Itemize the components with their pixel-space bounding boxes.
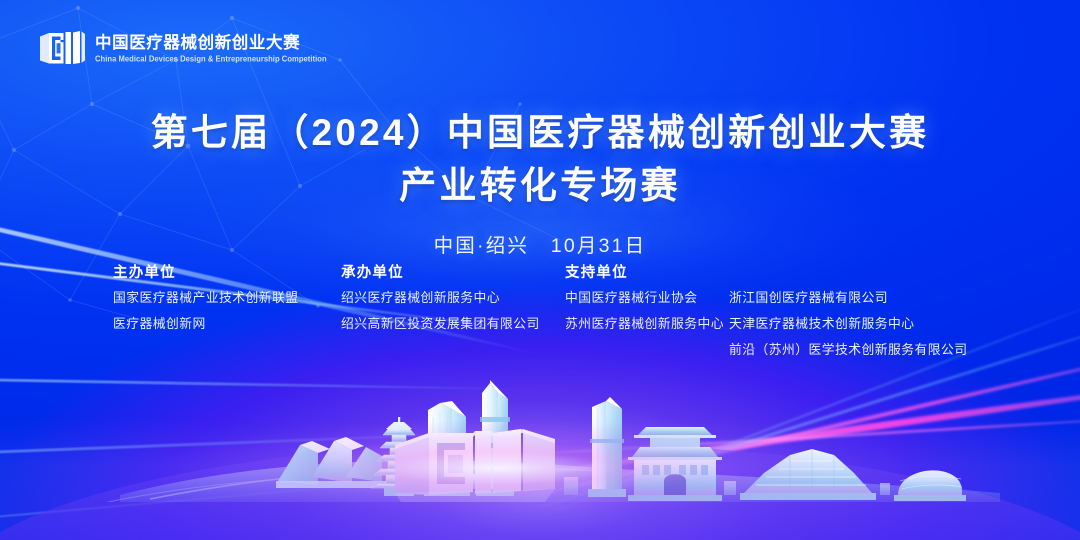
organizer-item: 中国医疗器械行业协会 [565, 291, 729, 305]
organizer-column-host: 主办单位 国家医疗器械产业技术创新联盟 医疗器械创新网 [113, 266, 341, 331]
organizer-column-supporter-continued: 浙江国创医疗器械有限公司 天津医疗器械技术创新服务中心 前沿（苏州）医学技术创新… [729, 266, 967, 357]
organizer-heading: 承办单位 [341, 266, 565, 282]
organizer-column-coorganizer: 承办单位 绍兴医疗器械创新服务中心 绍兴高新区投资发展集团有限公司 [341, 266, 565, 331]
logo-chinese-name: 中国医疗器械创新创业大赛 [95, 34, 327, 53]
organizer-item: 浙江国创医疗器械有限公司 [729, 291, 967, 305]
open-door-logo-svg [38, 24, 86, 72]
organizer-item: 国家医疗器械产业技术创新联盟 [113, 291, 341, 305]
logo-english-name: China Medical Devices Design & Entrepren… [95, 54, 327, 64]
event-banner: 中国医疗器械创新创业大赛 China Medical Devices Desig… [0, 0, 1080, 540]
organizer-item: 前沿（苏州）医学技术创新服务有限公司 [729, 343, 967, 357]
organizer-column-supporter: 支持单位 中国医疗器械行业协会 苏州医疗器械创新服务中心 [565, 266, 729, 331]
organizer-heading: 主办单位 [113, 266, 341, 282]
organizer-item: 绍兴高新区投资发展集团有限公司 [341, 317, 565, 331]
organizer-item: 天津医疗器械技术创新服务中心 [729, 317, 967, 331]
open-door-logo-icon [38, 24, 86, 72]
brand-logo[interactable]: 中国医疗器械创新创业大赛 China Medical Devices Desig… [38, 24, 327, 72]
organizers-block: 主办单位 国家医疗器械产业技术创新联盟 医疗器械创新网 承办单位 绍兴医疗器械创… [113, 266, 967, 357]
organizer-item: 医疗器械创新网 [113, 317, 341, 331]
headline-block: 第七届（2024）中国医疗器械创新创业大赛 产业转化专场赛 中国·绍兴 10月3… [0, 108, 1080, 258]
organizer-item: 苏州医疗器械创新服务中心 [565, 317, 729, 331]
headline-line-2: 产业转化专场赛 [0, 162, 1080, 211]
organizer-heading: 支持单位 [565, 266, 729, 282]
headline-line-1: 第七届（2024）中国医疗器械创新创业大赛 [0, 108, 1080, 158]
organizer-item: 绍兴医疗器械创新服务中心 [341, 291, 565, 305]
headline-subtitle: 中国·绍兴 10月31日 [0, 229, 1080, 258]
